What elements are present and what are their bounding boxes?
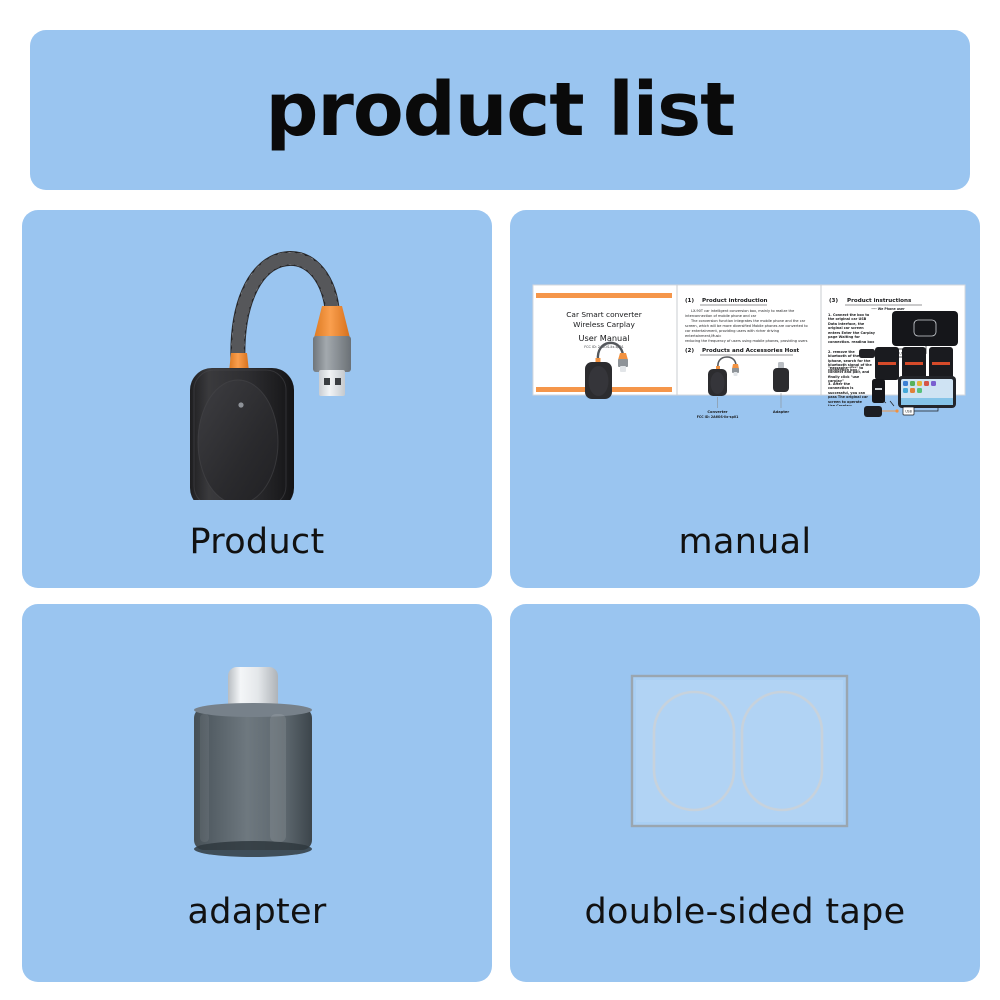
usb-a-tip xyxy=(319,370,345,396)
manual-body-2: The conversion function integrates the m… xyxy=(685,319,813,338)
product-illustration xyxy=(22,210,492,500)
panel-caption-adapter: adapter xyxy=(22,892,492,932)
manual-carplay-icon-4 xyxy=(924,381,929,386)
manual-step3-cable-path xyxy=(914,408,938,411)
manual-step3-phone-bar xyxy=(875,388,882,390)
manual-phone-3-highlight xyxy=(932,362,950,365)
manual-cover-line2: Wireless Carplay xyxy=(573,320,635,329)
manual-converter-label: Converter xyxy=(707,410,727,414)
manual-phone-1-highlight xyxy=(878,362,896,365)
manual-converter-fcc: FCC ID: 2A6OS-lix-sp01 xyxy=(697,415,739,419)
manual-step-1: 1. Connect the box to the original car U… xyxy=(828,313,876,343)
panel-caption-product: Product xyxy=(22,522,492,562)
cover-dongle-usb-housing xyxy=(618,359,628,367)
adapter-bottom-rim xyxy=(194,841,312,857)
adapter-body xyxy=(194,708,312,850)
adapter-top-rim xyxy=(194,703,312,717)
cover-dongle-oval xyxy=(589,366,609,396)
manual-adapter-plug xyxy=(778,362,784,369)
manual-section3-number: (3) xyxy=(829,298,838,304)
cover-dongle-usb-tip xyxy=(620,366,626,372)
manual-converter-oval xyxy=(711,372,725,394)
panel-product: Product xyxy=(22,210,492,588)
manual-carplay-icon-7 xyxy=(910,388,915,393)
manual-illustration: Car Smart converter Wireless Carplay Use… xyxy=(510,210,980,500)
manual-section2-title: Products and Accessories Host xyxy=(702,348,800,354)
manual-adapter-label: Adapter xyxy=(773,410,790,414)
tape-illustration xyxy=(510,604,980,894)
panel-caption-double-sided-tape: double-sided tape xyxy=(510,892,980,932)
manual-cover-line1: Car Smart converter xyxy=(566,310,642,319)
manual-step3-arrow-2 xyxy=(890,401,894,406)
adapter-highlight-left xyxy=(200,714,209,842)
manual-converter-usb-tip xyxy=(734,372,738,376)
manual-section2-number: (2) xyxy=(685,348,694,354)
manual-body-1: LX-90T car intelligent conversion box, m… xyxy=(685,309,813,318)
manual-carplay-icon-3 xyxy=(917,381,922,386)
manual-headunit xyxy=(892,311,958,346)
manual-section1-title: Product introduction xyxy=(702,298,768,304)
manual-cover-line3: User Manual xyxy=(578,333,629,343)
manual-step-3: 3. After the connection is successful, y… xyxy=(828,382,870,406)
manual-section1-number: (1) xyxy=(685,298,694,304)
manual-adapter-body xyxy=(773,368,789,392)
manual-carplay-icon-6 xyxy=(903,388,908,393)
manual-step3-connector-dot xyxy=(895,409,898,412)
header-banner: product list xyxy=(30,30,970,190)
manual-phone-2-highlight xyxy=(905,362,923,365)
usb-contact-right xyxy=(335,378,341,385)
manual-carplay-icon-8 xyxy=(917,388,922,393)
panel-double-sided-tape: double-sided tape xyxy=(510,604,980,982)
manual-step3-phone xyxy=(872,379,885,403)
manual-carplay-icon-1 xyxy=(903,381,908,386)
manual-step3-dongle xyxy=(864,406,882,417)
manual-step3-usb-badge-label: USB xyxy=(905,410,912,414)
panel-adapter: adapter xyxy=(22,604,492,982)
panel-manual: Car Smart converter Wireless Carplay Use… xyxy=(510,210,980,588)
adapter-illustration xyxy=(22,604,492,894)
usb-strain-relief-orange xyxy=(314,306,350,338)
usb-housing xyxy=(313,336,351,372)
manual-right-subtitle: ---- We Phone user xyxy=(871,307,905,311)
manual-carplay-icon-5 xyxy=(931,381,936,386)
manual-body-3: reducing the frequency of users using mo… xyxy=(685,339,813,343)
page-title: product list xyxy=(265,73,734,147)
adapter-highlight-right xyxy=(270,714,286,842)
cover-accent-bar-top xyxy=(536,293,672,298)
product-list-page: product list xyxy=(0,0,1000,1000)
manual-section3-title: Product instructions xyxy=(847,298,912,304)
manual-carplay-icon-2 xyxy=(910,381,915,386)
panel-caption-manual: manual xyxy=(510,522,980,562)
manual-carplay-map-area xyxy=(901,398,953,405)
usb-contact-left xyxy=(324,378,330,385)
device-led-indicator xyxy=(238,402,243,407)
